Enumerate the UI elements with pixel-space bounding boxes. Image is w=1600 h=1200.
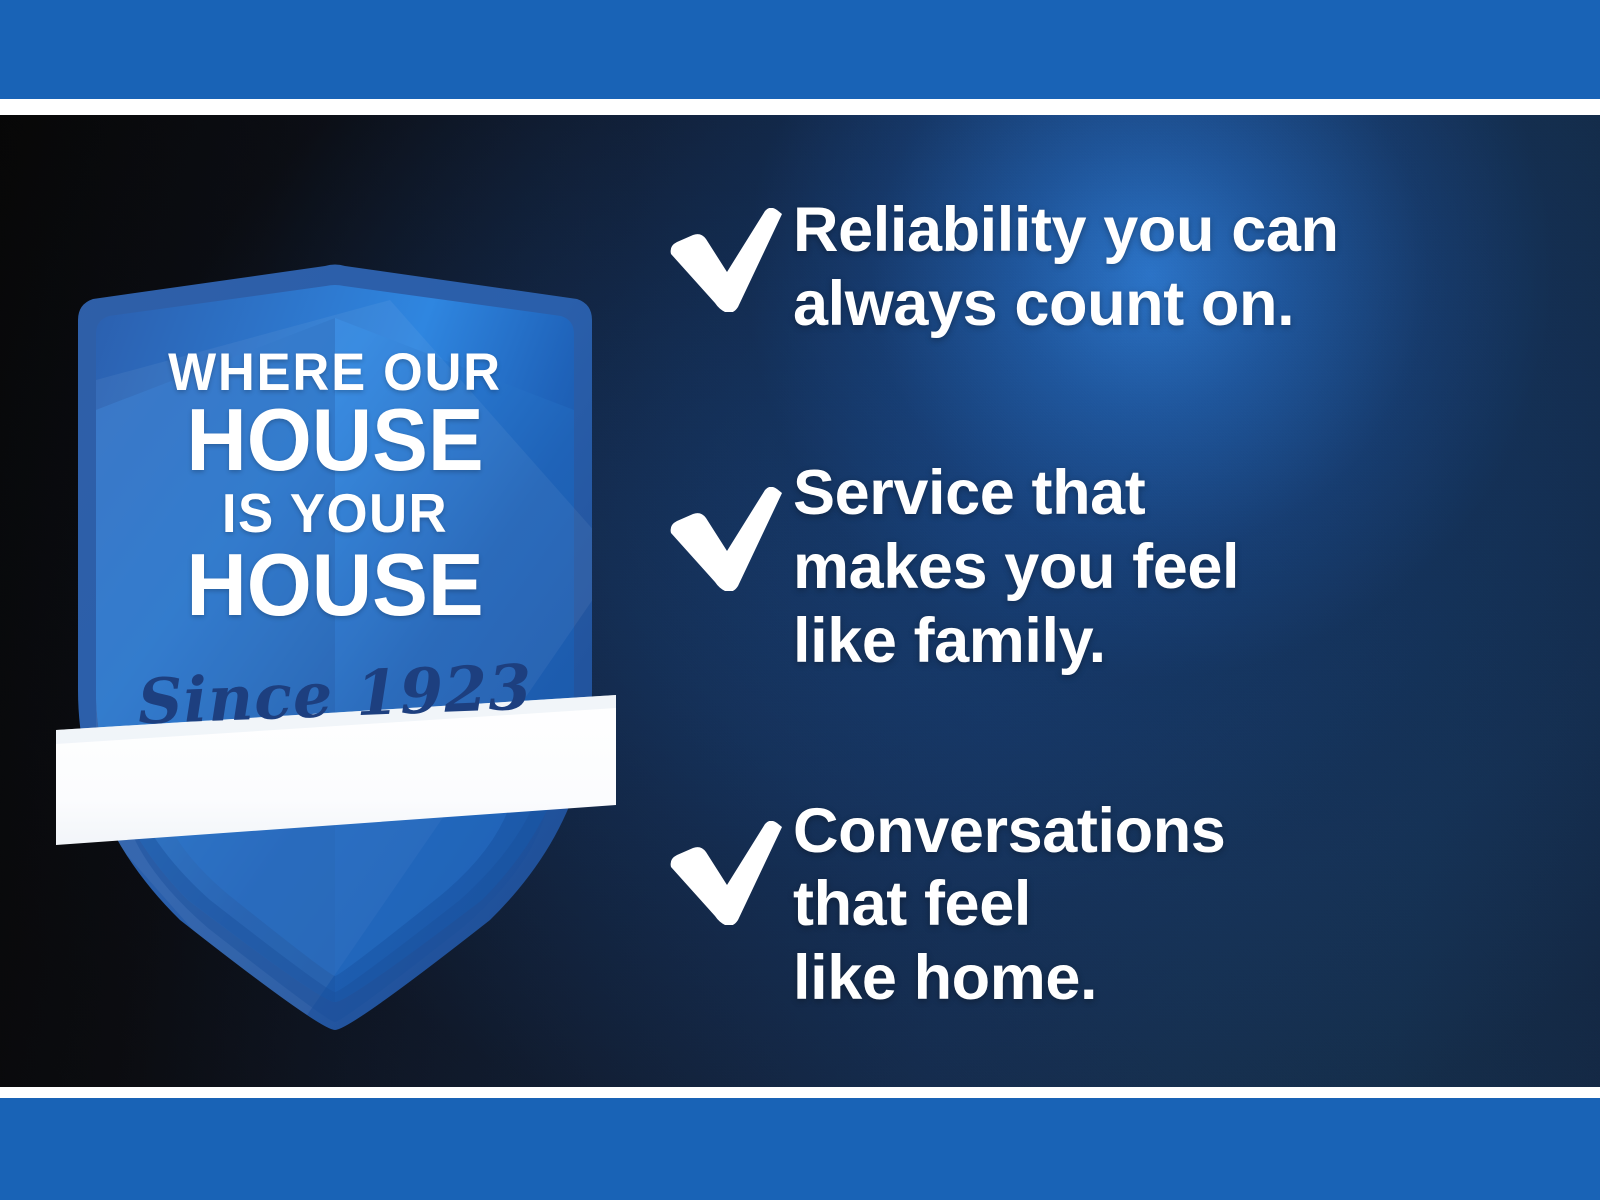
check-icon: [665, 190, 793, 312]
list-item-text: Conversations that feel like home.: [793, 791, 1525, 1016]
badge-shield: WHERE OUR HOUSE IS YOUR HOUSE Since 1923: [60, 260, 610, 940]
shield-graphic: [60, 260, 610, 940]
list-item: Reliability you can always count on.: [665, 190, 1525, 341]
check-icon: [665, 453, 793, 591]
promo-graphic: WHERE OUR HOUSE IS YOUR HOUSE Since 1923…: [0, 0, 1600, 1200]
check-icon: [665, 791, 793, 925]
content-stage: WHERE OUR HOUSE IS YOUR HOUSE Since 1923…: [0, 115, 1600, 1087]
benefits-list: Reliability you can always count on. Ser…: [665, 190, 1525, 1016]
top-brand-bar: [0, 0, 1600, 99]
list-item: Conversations that feel like home.: [665, 791, 1525, 1016]
list-item-text: Service that makes you feel like family.: [793, 453, 1525, 678]
shield-face: [96, 285, 620, 1040]
list-item-text: Reliability you can always count on.: [793, 190, 1525, 341]
list-item: Service that makes you feel like family.: [665, 453, 1525, 678]
bottom-brand-bar: [0, 1098, 1600, 1200]
bottom-divider: [0, 1087, 1600, 1098]
top-divider: [0, 99, 1600, 115]
